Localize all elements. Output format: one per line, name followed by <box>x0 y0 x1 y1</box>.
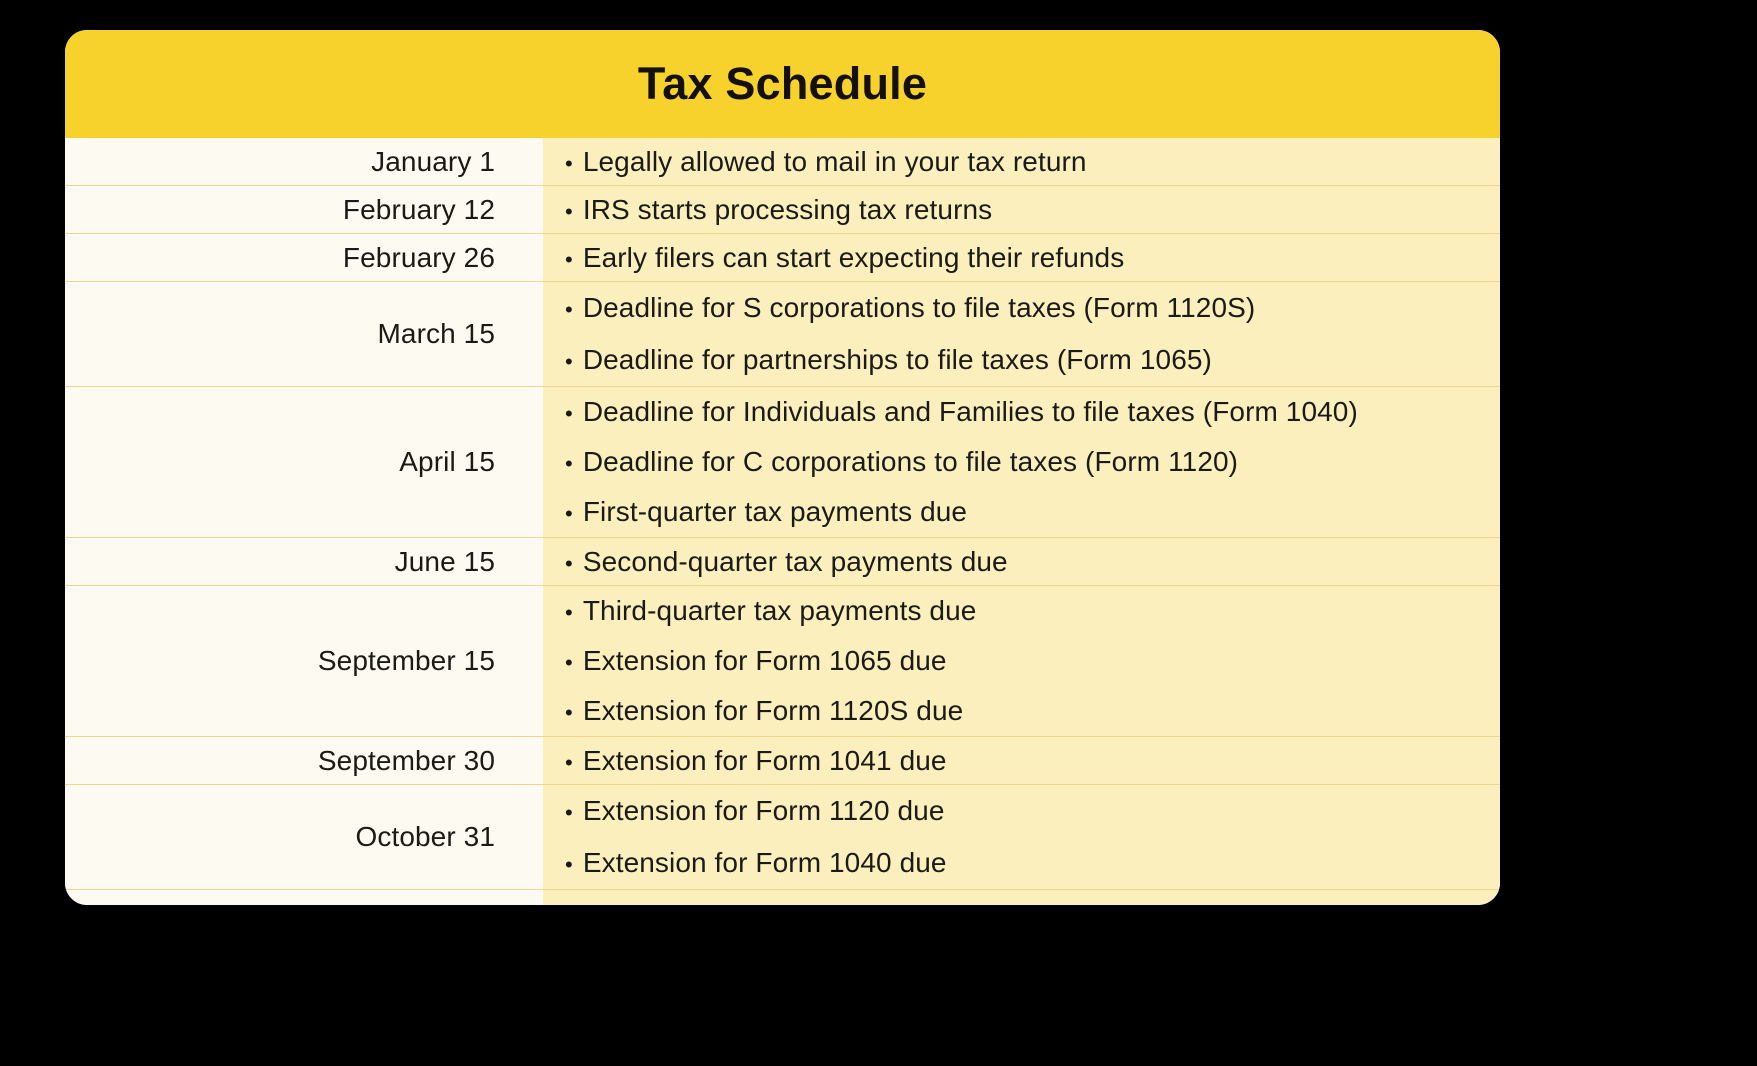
bullet-icon: • <box>565 201 573 223</box>
schedule-items-cell: •IRS starts processing tax returns <box>543 186 1500 233</box>
list-item-label: Extension for Form 1041 due <box>583 747 1480 775</box>
list-item: •Fourth-quarter tax payments due <box>543 900 1480 905</box>
schedule-date-cell: June 15 <box>65 538 543 585</box>
schedule-items-cell: •Legally allowed to mail in your tax ret… <box>543 138 1500 185</box>
bullet-icon: • <box>565 153 573 175</box>
list-item-label: Deadline for C corporations to file taxe… <box>583 448 1480 476</box>
schedule-items-cell: •Early filers can start expecting their … <box>543 234 1500 281</box>
list-item-label: Second-quarter tax payments due <box>583 548 1480 576</box>
list-item-label: IRS starts processing tax returns <box>583 196 1480 224</box>
list-item: •Early filers can start expecting their … <box>543 237 1480 279</box>
list-item-label: First-quarter tax payments due <box>583 498 1480 526</box>
table-row: February 26•Early filers can start expec… <box>65 234 1500 282</box>
list-item-label: Extension for Form 1065 due <box>583 647 1480 675</box>
bullet-icon: • <box>565 351 573 373</box>
bullet-icon: • <box>565 453 573 475</box>
schedule-date-cell: March 15 <box>65 282 543 386</box>
schedule-date-cell: October 31 <box>65 785 543 889</box>
bullet-icon: • <box>565 652 573 674</box>
schedule-date-cell: February 26 <box>65 234 543 281</box>
bullet-icon: • <box>565 802 573 824</box>
table-row: September 30•Extension for Form 1041 due <box>65 737 1500 785</box>
schedule-items-cell: •Third-quarter tax payments due•Extensio… <box>543 586 1500 736</box>
list-item-label: Extension for Form 1120 due <box>583 797 1480 825</box>
list-item: •First-quarter tax payments due <box>543 487 1480 537</box>
list-item: •Deadline for partnerships to file taxes… <box>543 334 1480 386</box>
schedule-date-cell: January 1 <box>65 138 543 185</box>
schedule-items-cell: •Second-quarter tax payments due <box>543 538 1500 585</box>
schedule-items-cell: •Extension for Form 1041 due <box>543 737 1500 784</box>
list-item: •Legally allowed to mail in your tax ret… <box>543 141 1480 183</box>
bullet-icon: • <box>565 503 573 525</box>
list-item: •Extension for Form 1040 due <box>543 837 1480 889</box>
list-item: •Extension for Form 1120 due <box>543 785 1480 837</box>
table-row: September 15•Third-quarter tax payments … <box>65 586 1500 737</box>
list-item-label: Third-quarter tax payments due <box>583 597 1480 625</box>
list-item-label: Deadline for Individuals and Families to… <box>583 398 1480 426</box>
list-item-label: Early filers can start expecting their r… <box>583 244 1480 272</box>
bullet-icon: • <box>565 403 573 425</box>
bullet-icon: • <box>565 299 573 321</box>
schedule-items-cell: •Fourth-quarter tax payments due <box>543 890 1500 905</box>
schedule-items-cell: •Extension for Form 1120 due•Extension f… <box>543 785 1500 889</box>
list-item: •Deadline for C corporations to file tax… <box>543 437 1480 487</box>
list-item: •Third-quarter tax payments due <box>543 586 1480 636</box>
page-background: Tax Schedule January 1•Legally allowed t… <box>0 0 1757 1066</box>
list-item: •Extension for Form 1065 due <box>543 636 1480 686</box>
table-row: February 12•IRS starts processing tax re… <box>65 186 1500 234</box>
page-title: Tax Schedule <box>638 58 927 110</box>
bullet-icon: • <box>565 249 573 271</box>
schedule-date-cell: April 15 <box>65 387 543 537</box>
tax-schedule-table: January 1•Legally allowed to mail in you… <box>65 138 1500 905</box>
bullet-icon: • <box>565 752 573 774</box>
table-row: April 15•Deadline for Individuals and Fa… <box>65 387 1500 538</box>
list-item: •Extension for Form 1041 due <box>543 740 1480 782</box>
list-item-label: Deadline for S corporations to file taxe… <box>583 294 1480 322</box>
schedule-items-cell: •Deadline for S corporations to file tax… <box>543 282 1500 386</box>
list-item: •Deadline for Individuals and Families t… <box>543 387 1480 437</box>
schedule-date-cell: September 30 <box>65 737 543 784</box>
tax-schedule-card: Tax Schedule January 1•Legally allowed t… <box>65 30 1500 905</box>
bullet-icon: • <box>565 602 573 624</box>
table-row: March 15•Deadline for S corporations to … <box>65 282 1500 387</box>
list-item-label: Extension for Form 1120S due <box>583 697 1480 725</box>
schedule-date-cell: September 15 <box>65 586 543 736</box>
list-item: •Deadline for S corporations to file tax… <box>543 282 1480 334</box>
list-item: •IRS starts processing tax returns <box>543 189 1480 231</box>
schedule-date-cell: January 15 <box>65 890 543 905</box>
bullet-icon: • <box>565 854 573 876</box>
table-row: January 1•Legally allowed to mail in you… <box>65 138 1500 186</box>
list-item: •Second-quarter tax payments due <box>543 541 1480 583</box>
list-item: •Extension for Form 1120S due <box>543 686 1480 736</box>
schedule-items-cell: •Deadline for Individuals and Families t… <box>543 387 1500 537</box>
list-item-label: Deadline for partnerships to file taxes … <box>583 346 1480 374</box>
list-item-label: Extension for Form 1040 due <box>583 849 1480 877</box>
bullet-icon: • <box>565 702 573 724</box>
table-row: June 15•Second-quarter tax payments due <box>65 538 1500 586</box>
schedule-date-cell: February 12 <box>65 186 543 233</box>
table-row: January 15•Fourth-quarter tax payments d… <box>65 890 1500 905</box>
card-header: Tax Schedule <box>65 30 1500 138</box>
table-row: October 31•Extension for Form 1120 due•E… <box>65 785 1500 890</box>
list-item-label: Legally allowed to mail in your tax retu… <box>583 148 1480 176</box>
bullet-icon: • <box>565 553 573 575</box>
